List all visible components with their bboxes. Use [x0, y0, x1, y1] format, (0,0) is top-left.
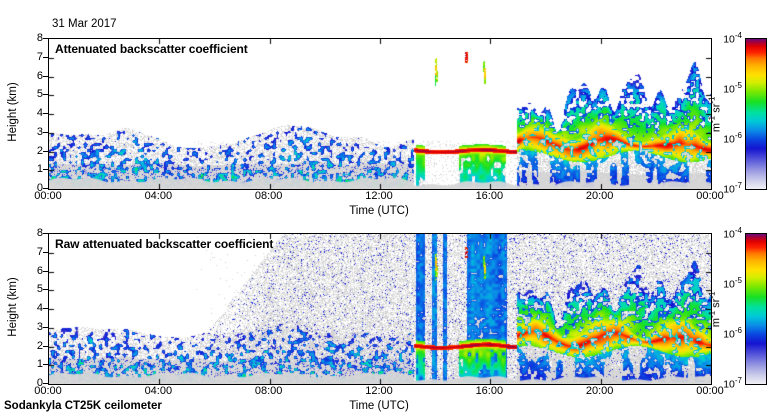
x-tick-label: 16:00 — [476, 385, 504, 397]
y-tick-mark — [43, 252, 49, 253]
x-tick-label: 12:00 — [365, 385, 393, 397]
y-tick-mark — [43, 76, 49, 77]
x-tick-label: 08:00 — [255, 190, 283, 202]
y-tick-mark — [43, 57, 49, 58]
colorbar-tick-label: 10-5 — [723, 81, 742, 96]
x-tick-label: 04:00 — [145, 385, 173, 397]
colorbar-tick-label: 10-5 — [723, 276, 742, 291]
x-tick-label: 04:00 — [145, 190, 173, 202]
panel-title-bottom: Raw attenuated backscatter coefficient — [55, 237, 273, 251]
date-label: 31 Mar 2017 — [52, 18, 117, 30]
heatmap-canvas-top — [49, 39, 711, 189]
colorbar-top — [745, 38, 767, 190]
y-tick-mark — [43, 233, 49, 234]
x-tick-label: 00:00 — [696, 385, 724, 397]
x-tick-label: 20:00 — [586, 385, 614, 397]
y-tick-mark — [43, 364, 49, 365]
x-tick-label: 00:00 — [34, 385, 62, 397]
panel-title-top: Attenuated backscatter coefficient — [55, 42, 248, 56]
y-tick-mark — [43, 327, 49, 328]
y-tick-mark — [43, 169, 49, 170]
y-tick-mark — [43, 308, 49, 309]
x-tick-label: 00:00 — [696, 190, 724, 202]
colorbar-tick-label: 10-6 — [723, 326, 742, 341]
x-tick-label: 00:00 — [34, 190, 62, 202]
y-tick-mark — [43, 132, 49, 133]
y-tick-mark — [43, 38, 49, 39]
y-tick-mark — [43, 271, 49, 272]
y-tick-mark — [43, 188, 49, 189]
colorbar-unit-bottom: m-1 sr-1 — [708, 249, 723, 369]
y-tick-mark — [43, 289, 49, 290]
colorbar-tick-label: 10-7 — [723, 181, 742, 196]
colorbar-tick-label: 10-4 — [723, 226, 742, 241]
x-tick-label: 20:00 — [586, 190, 614, 202]
instrument-label: Sodankyla CT25K ceilometer — [4, 400, 162, 412]
colorbar-tick-label: 10-7 — [723, 376, 742, 391]
y-axis-label-top: Height (km) — [7, 37, 19, 187]
y-tick-mark — [43, 113, 49, 114]
x-tick-label: 12:00 — [365, 190, 393, 202]
x-tick-label: 16:00 — [476, 190, 504, 202]
y-tick-mark — [43, 383, 49, 384]
colorbar-bottom — [745, 233, 767, 385]
x-tick-label: 08:00 — [255, 385, 283, 397]
colorbar-tick-label: 10-6 — [723, 131, 742, 146]
colorbar-tick-label: 10-4 — [723, 31, 742, 46]
y-tick-mark — [43, 346, 49, 347]
ceilometer-figure: 31 Mar 2017 Attenuated backscatter coeff… — [0, 0, 780, 420]
y-tick-mark — [43, 151, 49, 152]
panel-attenuated-backscatter: Attenuated backscatter coefficient — [48, 38, 712, 190]
y-axis-label-bottom: Height (km) — [7, 232, 19, 382]
x-axis-label-top: Time (UTC) — [48, 205, 710, 217]
y-tick-mark — [43, 94, 49, 95]
colorbar-unit-top: m-1 sr-1 — [708, 54, 723, 174]
heatmap-canvas-bottom — [49, 234, 711, 384]
panel-raw-attenuated-backscatter: Raw attenuated backscatter coefficient — [48, 233, 712, 385]
